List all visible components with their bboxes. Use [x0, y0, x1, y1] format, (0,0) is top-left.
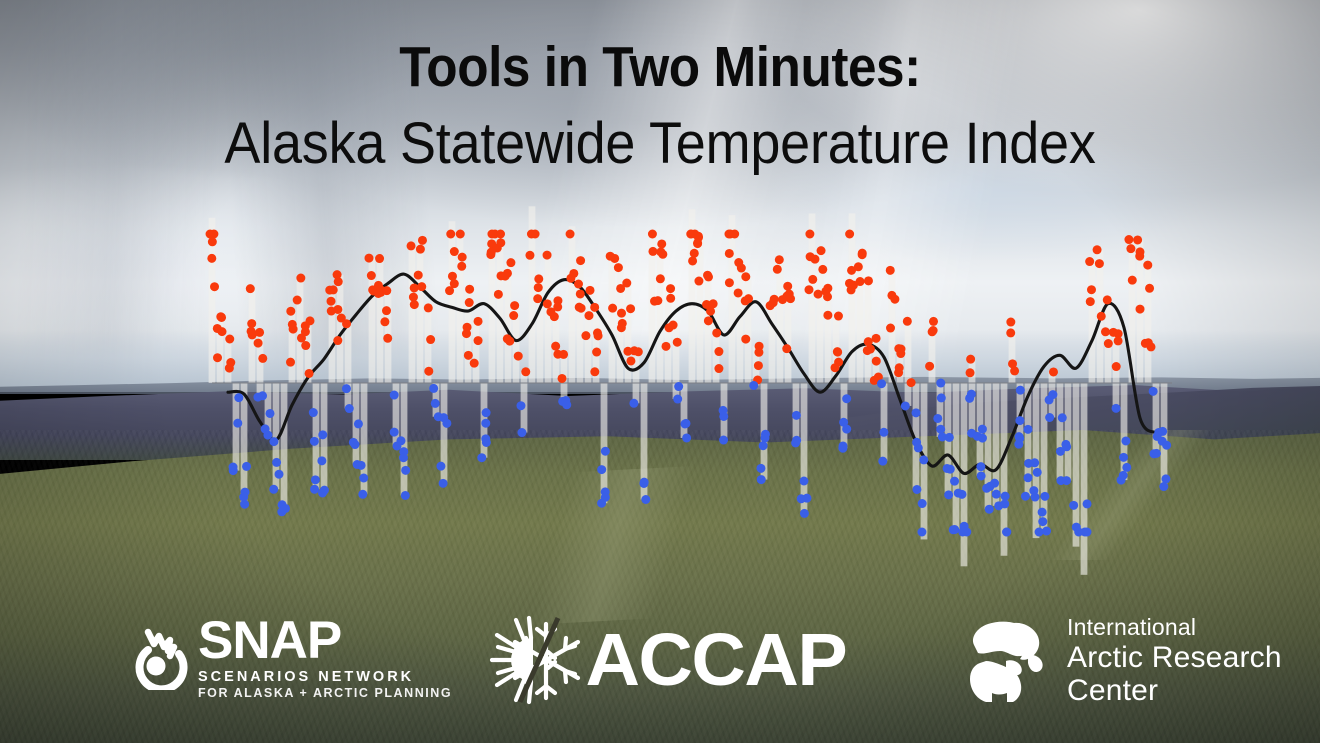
- page-title: Tools in Two Minutes: Alaska Statewide T…: [0, 36, 1320, 178]
- temperature-index-chart: [212, 228, 1172, 538]
- snap-text-block: SNAP SCENARIOS NETWORK FOR ALASKA + ARCT…: [198, 616, 452, 701]
- logo-row: SNAP SCENARIOS NETWORK FOR ALASKA + ARCT…: [0, 604, 1320, 724]
- snap-tagline-line1: SCENARIOS NETWORK: [198, 669, 452, 686]
- snap-flame-circle-icon: [128, 628, 192, 690]
- snap-logo: SNAP SCENARIOS NETWORK FOR ALASKA + ARCT…: [128, 616, 452, 701]
- snap-tagline-line2: FOR ALASKA + ARCTIC PLANNING: [198, 686, 452, 701]
- sun-snowflake-split-icon: [486, 614, 584, 706]
- iarc-logo: International Arctic Research Center: [962, 614, 1282, 707]
- title-line-secondary: Alaska Statewide Temperature Index: [46, 110, 1274, 178]
- iarc-text-block: International Arctic Research Center: [1067, 614, 1282, 707]
- iarc-line-3: Center: [1067, 674, 1282, 707]
- accap-logo: ACCAP: [486, 614, 844, 706]
- globe-polar-bear-icon: [962, 615, 1054, 707]
- accap-wordmark: ACCAP: [585, 623, 846, 697]
- slide-root: Tools in Two Minutes: Alaska Statewide T…: [0, 0, 1320, 743]
- snap-wordmark: SNAP: [198, 616, 452, 666]
- title-line-primary: Tools in Two Minutes:: [66, 36, 1254, 98]
- iarc-line-1: International: [1067, 614, 1282, 641]
- chart-svg: [212, 228, 1172, 538]
- iarc-line-2: Arctic Research: [1067, 641, 1282, 674]
